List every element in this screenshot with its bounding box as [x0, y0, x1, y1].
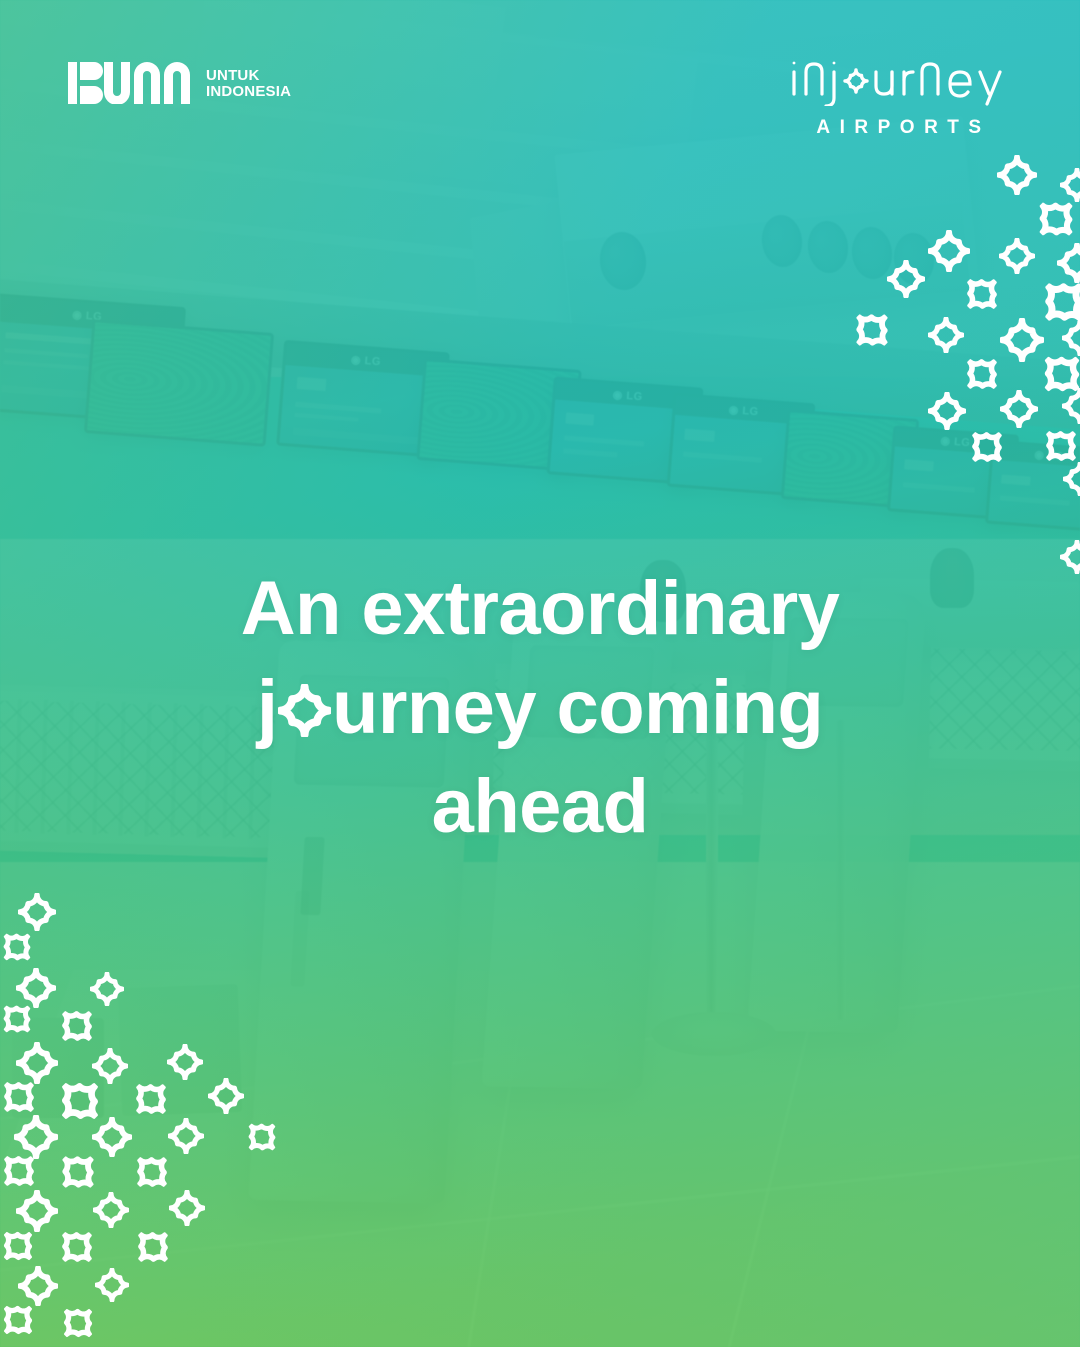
injourney-logo: AIRPORTS [788, 50, 1010, 139]
poster-canvas: ◉ LG ◉ LG ◉ LG [0, 0, 1080, 1347]
quatrefoil-icon [18, 893, 56, 931]
headline-line-1: An extraordinary [86, 560, 994, 659]
bumn-logo: UNTUK INDONESIA [68, 62, 291, 104]
headline-line2-suffix: urney coming [332, 665, 823, 750]
headline: An extraordinary j urney coming ahead [0, 560, 1080, 856]
quatrefoil-icon [90, 972, 124, 1006]
bumn-wordmark-icon [68, 62, 196, 104]
bumn-tagline-line1: UNTUK [206, 68, 291, 84]
quatrefoil-icon [93, 1192, 129, 1228]
quatrefoil-icon [92, 1048, 128, 1084]
injourney-subtitle: AIRPORTS [788, 117, 1019, 139]
quatrefoil-icon [92, 1117, 132, 1157]
quatrefoil-icon [126, 1220, 180, 1274]
quatrefoil-icon [53, 1298, 104, 1347]
headline-line2-prefix: j [257, 665, 278, 750]
headline-line-3: ahead [86, 758, 994, 857]
quatrefoil-icon [278, 663, 331, 716]
quatrefoil-icon [167, 1044, 203, 1080]
quatrefoil-icon [50, 1220, 104, 1274]
bumn-tagline-line2: INDONESIA [206, 84, 291, 100]
bumn-tagline: UNTUK INDONESIA [206, 68, 291, 100]
injourney-wordmark-icon [788, 50, 1010, 106]
headline-line-2: j urney coming [86, 659, 994, 758]
quatrefoil-icon [168, 1118, 204, 1154]
quatrefoil-icon [95, 1268, 129, 1302]
quatrefoil-icon [238, 1113, 286, 1161]
quatrefoil-icon [50, 999, 104, 1053]
quatrefoil-icon [169, 1190, 205, 1226]
quatrefoil-icon [208, 1078, 244, 1114]
